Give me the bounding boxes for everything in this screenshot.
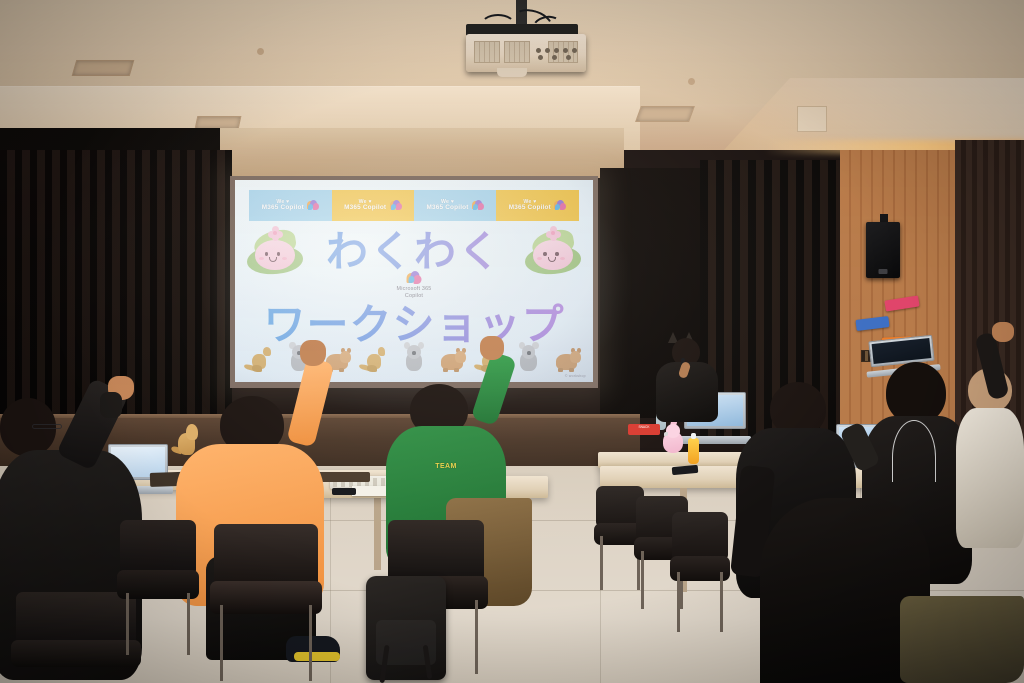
wall-speaker <box>866 222 900 278</box>
snack-pack: SNACK <box>628 424 660 435</box>
table-leg <box>374 490 381 570</box>
banner-cell: We ♥ M365 Copilot <box>332 190 414 221</box>
speaker-brand-plate <box>879 269 888 274</box>
workshop-room-photo: We ♥ M365 Copilot We ♥ M365 Copilot We ♥ <box>0 0 1024 683</box>
projected-slide: We ♥ M365 Copilot We ♥ M365 Copilot We ♥ <box>235 180 593 382</box>
copilot-icon <box>307 200 319 211</box>
wall-panel <box>797 106 827 132</box>
wombat-icon <box>552 342 582 372</box>
snack-pack-label: SNACK <box>628 424 660 430</box>
banner-line2: M365 Copilot <box>426 205 468 212</box>
desk-snacks <box>316 472 370 482</box>
projector-vent <box>474 41 500 63</box>
slide-credit: © workshop <box>565 374 586 378</box>
banner-text: We ♥ M365 Copilot <box>262 200 304 212</box>
banner-line2: M365 Copilot <box>509 205 551 212</box>
glasses <box>32 424 62 429</box>
raised-fist-orange <box>300 340 326 366</box>
ceiling-fixture-dot <box>257 48 264 55</box>
ceiling-fixture-dot <box>688 78 695 85</box>
animal-strip <box>246 342 583 372</box>
slide-banner: We ♥ M365 Copilot We ♥ M365 Copilot We ♥ <box>249 190 578 221</box>
participant-head <box>886 362 946 424</box>
ceiling-vent <box>635 106 695 122</box>
banner-text: We ♥ M365 Copilot <box>344 200 386 212</box>
projection-screen-frame: We ♥ M365 Copilot We ♥ M365 Copilot We ♥ <box>230 176 598 388</box>
projector-ports <box>536 48 578 60</box>
banner-cell: We ♥ M365 Copilot <box>496 190 578 221</box>
shirt-back-logo: TEAM <box>412 463 479 471</box>
black-backpack <box>366 576 446 680</box>
banner-cell: We ♥ M365 Copilot <box>249 190 331 221</box>
copilot-logo-icon <box>407 271 422 285</box>
shoe-sole-accent <box>294 652 340 661</box>
chair[interactable] <box>16 592 136 683</box>
ceiling-projector <box>466 34 586 72</box>
chair[interactable] <box>214 524 318 634</box>
wombat-icon <box>437 342 467 372</box>
juice-bottle[interactable] <box>688 438 699 464</box>
participant-white-top <box>956 368 1024 584</box>
banner-line2: M365 Copilot <box>344 205 386 212</box>
projector-vent <box>504 41 530 63</box>
draped-coat <box>900 596 1024 683</box>
participant-torso <box>956 408 1024 548</box>
chair[interactable] <box>120 520 196 616</box>
koala-icon <box>514 342 544 372</box>
banner-cell: We ♥ M365 Copilot <box>414 190 496 221</box>
banner-line2: M365 Copilot <box>262 205 304 212</box>
copilot-icon <box>472 200 484 211</box>
copilot-icon <box>390 200 402 211</box>
ceiling-vent <box>72 60 135 76</box>
koala-icon <box>399 342 429 372</box>
banner-text: We ♥ M365 Copilot <box>426 200 468 212</box>
projector-lens <box>497 68 527 77</box>
banner-text: We ♥ M365 Copilot <box>509 200 551 212</box>
pink-cockatoo-plush <box>660 424 686 458</box>
raised-fist-green <box>480 336 504 360</box>
presenter <box>654 336 720 422</box>
raised-fist-right <box>992 322 1014 342</box>
kangaroo-icon <box>246 342 276 372</box>
sleeve-cuff <box>100 392 122 418</box>
kangaroo-icon <box>361 342 391 372</box>
chair[interactable] <box>672 512 728 596</box>
phone[interactable] <box>332 488 356 495</box>
copilot-icon <box>554 200 566 211</box>
